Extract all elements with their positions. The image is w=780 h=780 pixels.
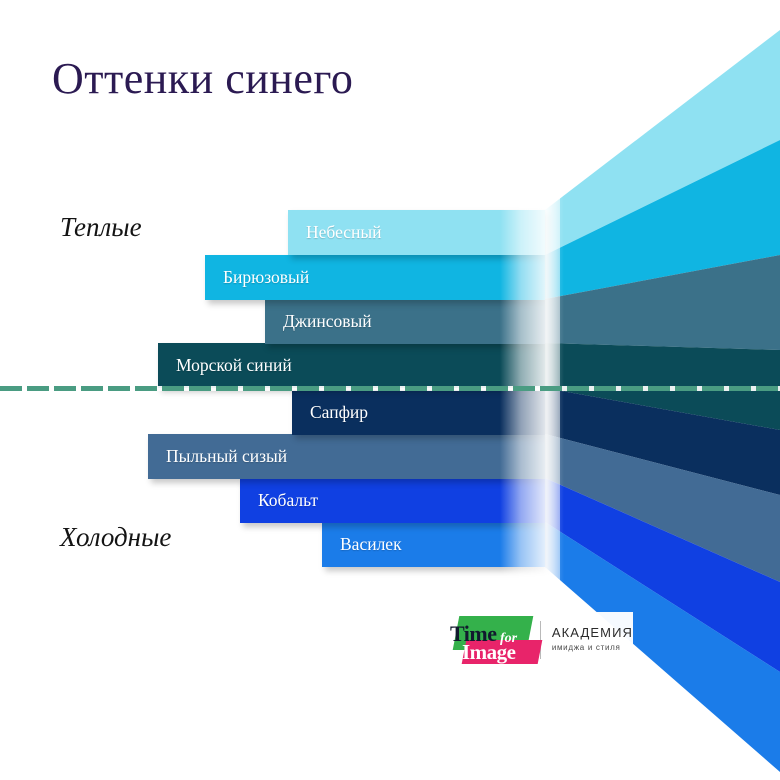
brand-logo[interactable]: Time for Image АКАДЕМИЯ имиджа и стиля [448,612,633,668]
logo-academy-label: АКАДЕМИЯ [552,626,633,641]
bar-3[interactable]: Джинсовый [265,299,545,344]
logo-mark: Time for Image [448,614,536,666]
bar-label: Василек [322,534,402,555]
bar-label: Небесный [288,222,382,243]
bar-label: Бирюзовый [205,267,309,288]
logo-subtitle-label: имиджа и стиля [552,643,633,653]
poster-canvas: Оттенки синего Теплые Холодные НебесныйБ… [0,0,780,780]
bar-label: Сапфир [292,402,368,423]
logo-text-block: АКАДЕМИЯ имиджа и стиля [552,626,633,653]
bar-label: Кобальт [240,490,318,511]
bar-7[interactable]: Кобальт [240,478,545,523]
bar-2[interactable]: Бирюзовый [205,255,545,300]
bar-5[interactable]: Сапфир [292,390,545,435]
bar-4[interactable]: Морской синий [158,343,545,388]
bar-label: Джинсовый [265,311,372,332]
bar-label: Пыльный сизый [148,446,287,467]
logo-word-image: Image [462,640,516,665]
bar-6[interactable]: Пыльный сизый [148,434,545,479]
bar-label: Морской синий [158,355,292,376]
bar-8[interactable]: Василек [322,522,545,567]
warm-cold-divider [0,386,780,391]
bar-1[interactable]: Небесный [288,210,545,255]
